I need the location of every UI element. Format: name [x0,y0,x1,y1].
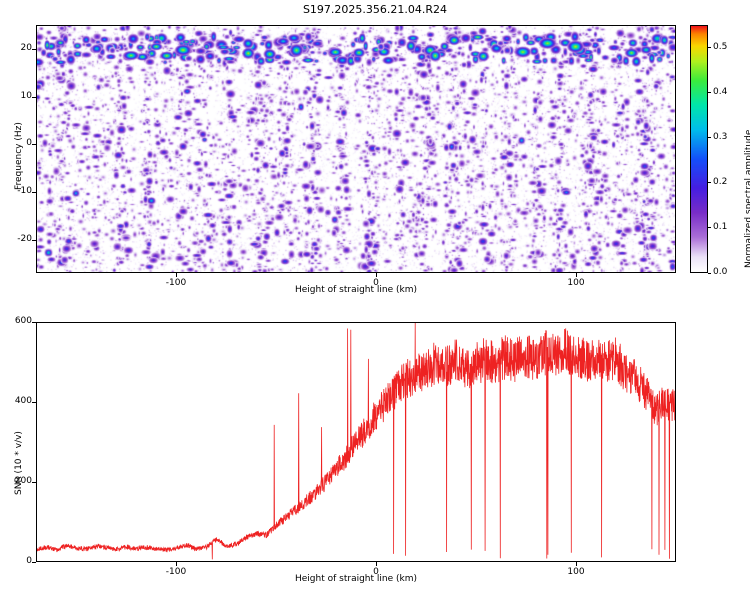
colorbar-label: Normalized spectral amplitude [744,130,750,268]
colorbar-tick-label: 0.1 [713,222,727,232]
spectrogram-ytick-label: -20 [2,234,32,244]
colorbar-tick-label: 0.2 [713,177,727,187]
snr-plot [37,323,675,561]
colorbar [690,25,708,273]
spectrogram-xtick [176,273,177,277]
snr-ytick [32,322,36,323]
colorbar-tick [708,273,711,274]
spectrogram-xlabel: Height of straight line (km) [0,285,712,295]
spectrogram-ytick [32,49,36,50]
snr-xlabel: Height of straight line (km) [0,574,712,584]
colorbar-tick [708,137,711,138]
colorbar-tick [708,182,711,183]
spectrogram-xtick [376,273,377,277]
snr-ytick-label: 400 [0,396,32,406]
colorbar-tick [708,227,711,228]
snr-xtick [576,562,577,566]
spectrogram-ytick [32,240,36,241]
spectrogram-ytick-label: 20 [2,43,32,53]
spectrogram-image [37,26,675,272]
spectrogram-xtick [576,273,577,277]
spectrogram-ytick [32,144,36,145]
snr-ytick-label: 0 [0,556,32,566]
snr-panel [36,322,676,562]
colorbar-gradient [691,26,707,272]
spectrogram-ytick [32,97,36,98]
colorbar-tick-label: 0.0 [713,267,727,277]
colorbar-tick [708,92,711,93]
snr-ylabel: SNR (10 * v/v) [14,431,24,495]
snr-ytick [32,482,36,483]
snr-xtick [376,562,377,566]
colorbar-tick-label: 0.5 [713,42,727,52]
snr-xtick [176,562,177,566]
spectrogram-ylabel: Frequency (Hz) [14,122,24,190]
colorbar-tick [708,47,711,48]
snr-ytick-label: 600 [0,316,32,326]
spectrogram-ytick-label: 10 [2,91,32,101]
snr-ytick [32,402,36,403]
figure-title: S197.2025.356.21.04.R24 [0,3,750,16]
snr-ytick [32,562,36,563]
snr-series-line [37,323,675,559]
spectrogram-panel [36,25,676,273]
colorbar-tick-label: 0.3 [713,132,727,142]
colorbar-tick-label: 0.4 [713,87,727,97]
figure-root: S197.2025.356.21.04.R24 -1000100-20-1001… [0,0,750,600]
spectrogram-ytick [32,192,36,193]
